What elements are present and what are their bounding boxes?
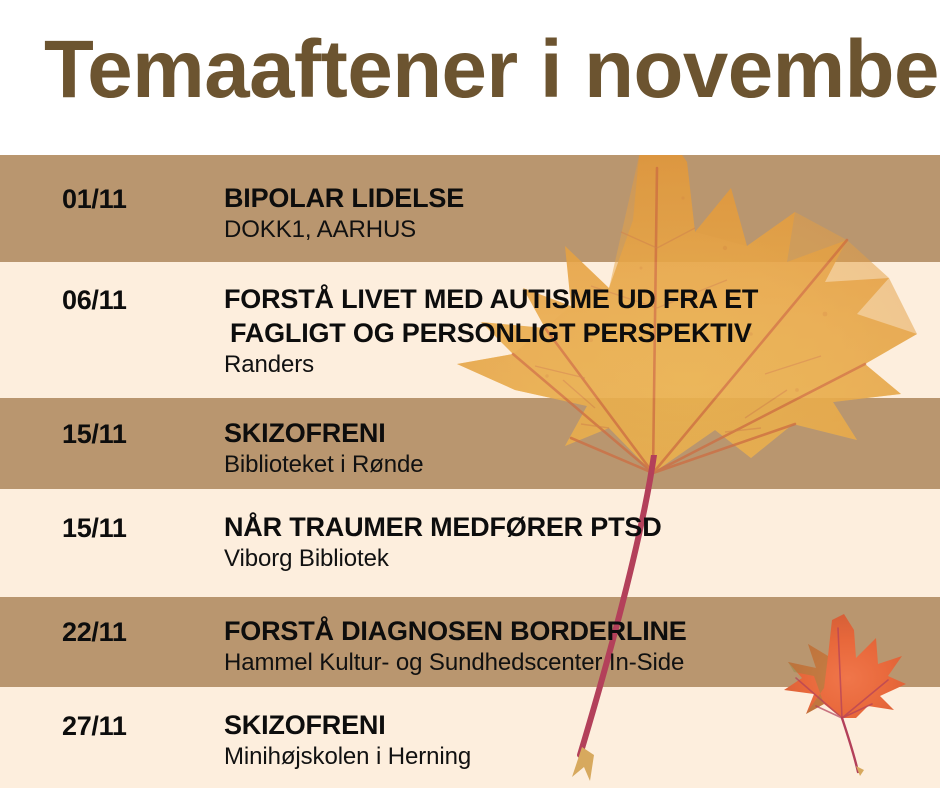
maple-leaf-small-icon: [776, 614, 906, 779]
page-title: Temaaftener i november: [44, 22, 900, 118]
poster-canvas: Temaaftener i november 01/11 BIPOLAR LID…: [0, 0, 940, 788]
header-band: Temaaftener i november: [0, 0, 940, 155]
maple-leaf-large-stem-icon: [520, 455, 700, 785]
